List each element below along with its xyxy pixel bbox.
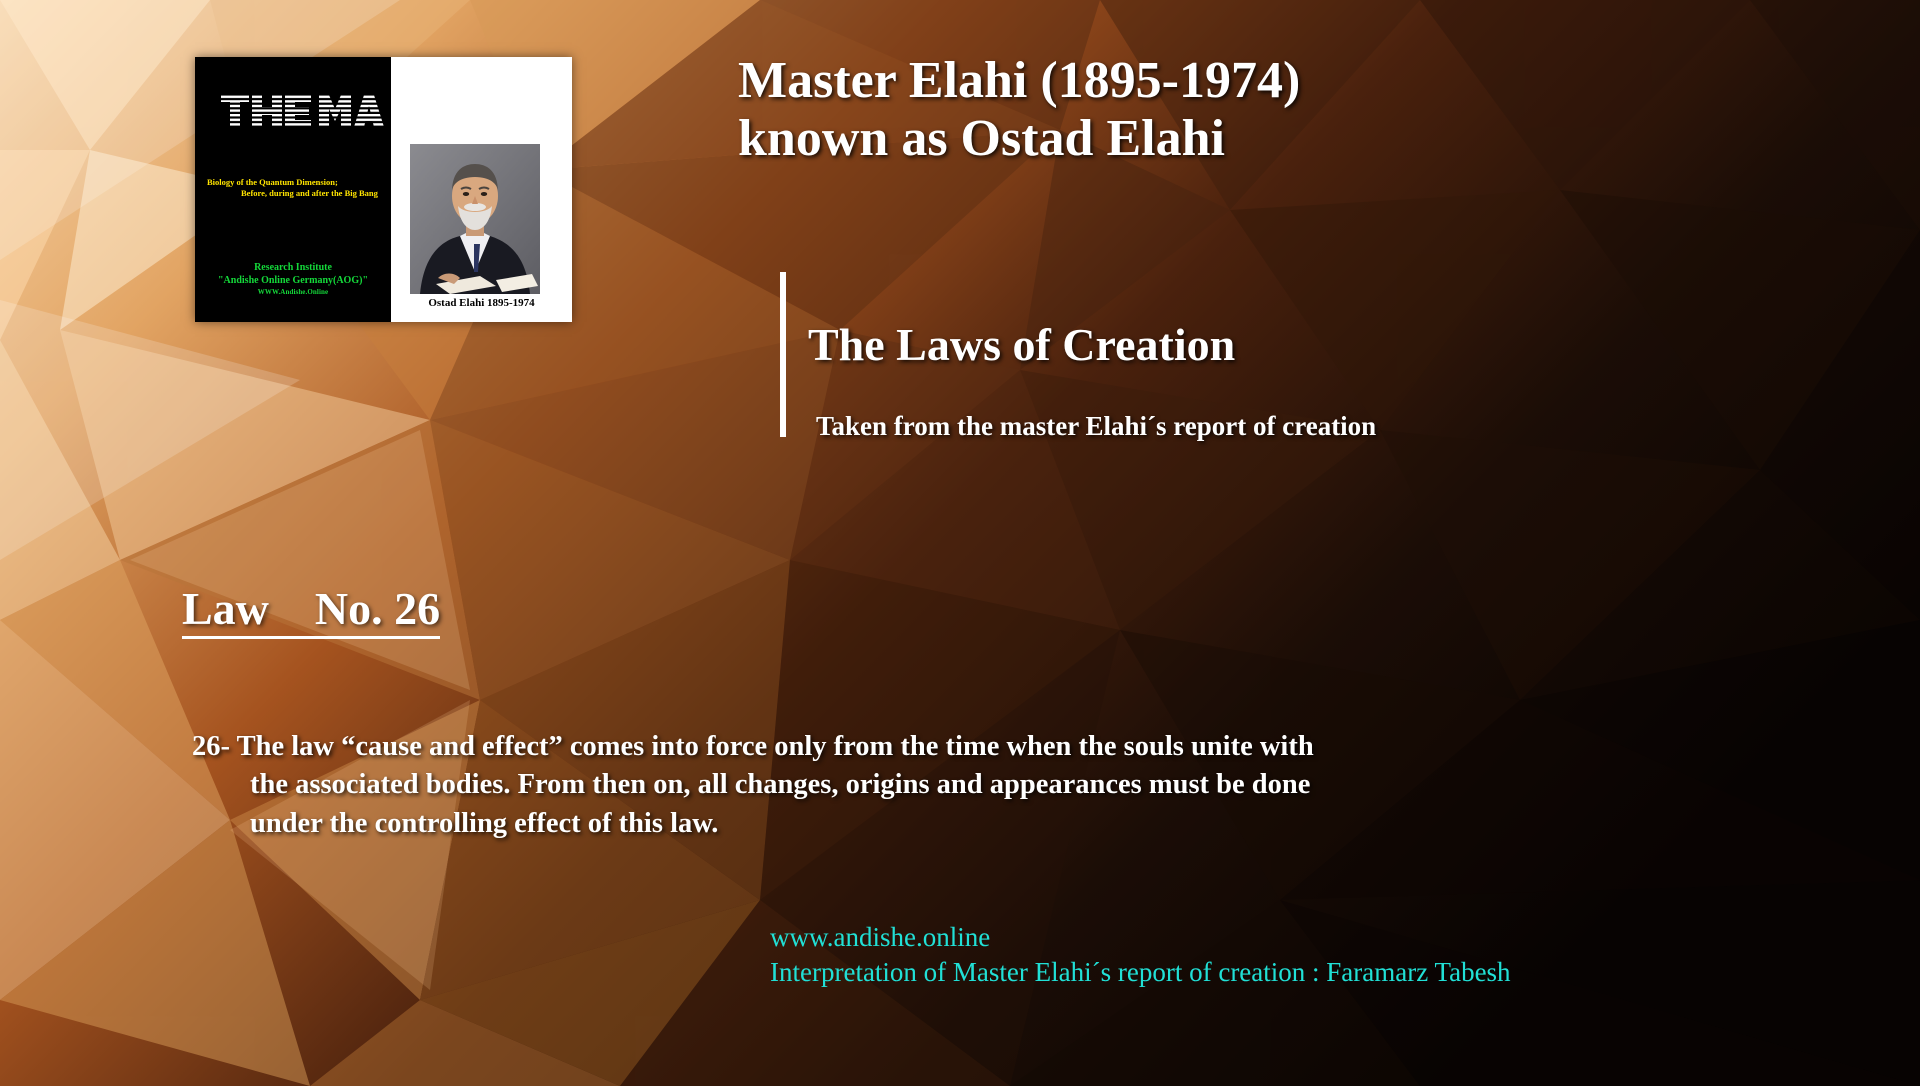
book-subtitle-line2: Before, during and after the Big Bang xyxy=(207,188,387,199)
accent-vertical-bar xyxy=(780,272,786,437)
book-subtitle: Biology of the Quantum Dimension; Before… xyxy=(207,177,387,200)
law-body-line-2: the associated bodies. From then on, all… xyxy=(192,766,1722,804)
law-body-line-1: 26- The law “cause and effect” comes int… xyxy=(192,728,1722,766)
ostad-elahi-portrait-photo xyxy=(410,144,540,294)
book-cover-back-panel: Ostad Elahi 1895-1974 xyxy=(391,57,572,322)
book-cover-front-panel: Biology of the Quantum Dimension; Before… xyxy=(195,57,391,322)
section-subtitle: Taken from the master Elahi´s report of … xyxy=(816,413,1376,440)
law-body-line-3: under the controlling effect of this law… xyxy=(192,805,1722,843)
book-subtitle-line1: Biology of the Quantum Dimension; xyxy=(207,177,338,187)
footer-website-link[interactable]: www.andishe.online xyxy=(770,920,1511,955)
footer-interpretation-credit: Interpretation of Master Elahi´s report … xyxy=(770,955,1511,990)
page-title: Master Elahi (1895-1974) known as Ostad … xyxy=(738,52,1838,168)
the-master-logo-icon xyxy=(219,91,387,131)
book-publisher-block: Research Institute "Andishe Online Germa… xyxy=(195,261,391,297)
publisher-line2: "Andishe Online Germany(AOG)" xyxy=(218,275,368,286)
book-cover-image: Biology of the Quantum Dimension; Before… xyxy=(195,57,572,322)
law-body-text: 26- The law “cause and effect” comes int… xyxy=(192,728,1722,843)
presentation-slide: Biology of the Quantum Dimension; Before… xyxy=(0,0,1920,1086)
law-number-heading: Law No. 26 xyxy=(182,586,440,639)
section-title: The Laws of Creation xyxy=(808,322,1235,368)
footer-credits: www.andishe.online Interpretation of Mas… xyxy=(770,920,1511,990)
publisher-line1: Research Institute xyxy=(254,262,332,273)
publisher-url: WWW.Andishe.Online xyxy=(195,288,391,297)
portrait-caption: Ostad Elahi 1895-1974 xyxy=(391,297,572,309)
